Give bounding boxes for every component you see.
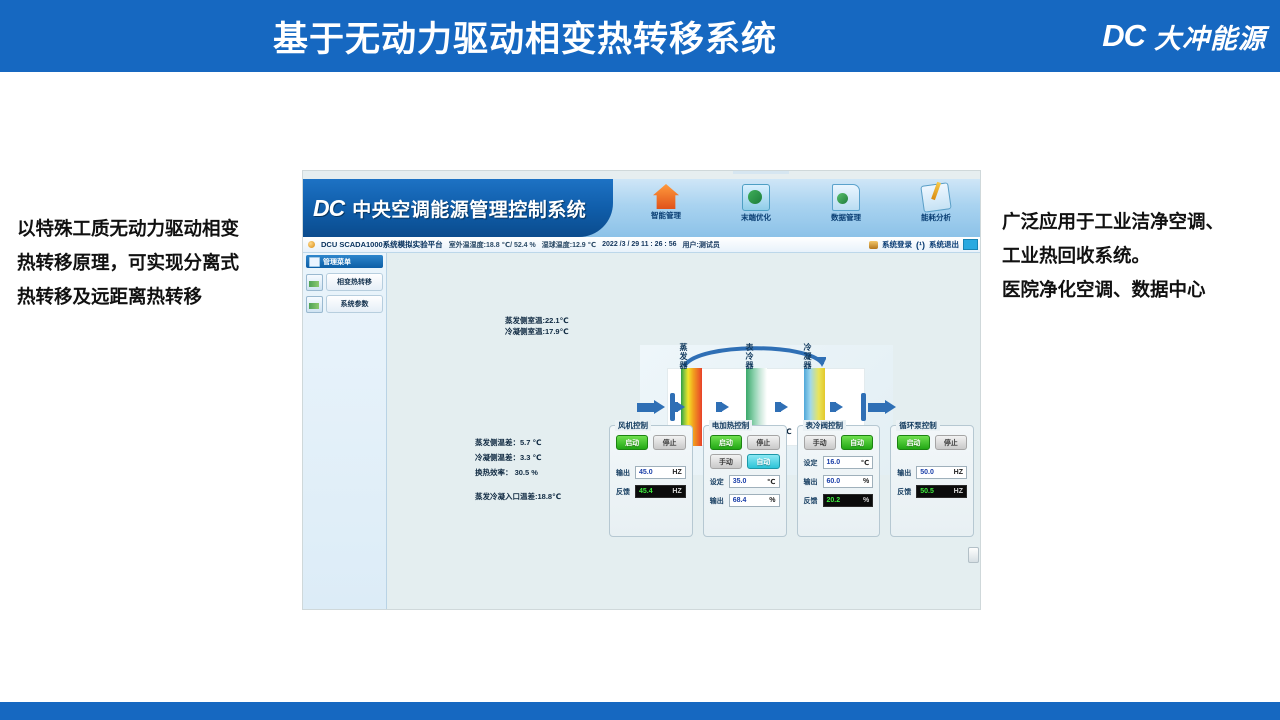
valve-feedback-label: 反馈 [804, 496, 819, 506]
heater-output-field[interactable]: 68.4 % [729, 494, 780, 507]
heater-button-row-2: 手动 自动 [710, 454, 780, 469]
sidebar-header-label: 管理菜单 [323, 257, 351, 267]
panel-fan-control: 风机控制 启动 停止 输出 45.0 HZ 反馈 45.4 HZ [609, 425, 693, 537]
pump-feedback-display: 50.5 HZ [916, 485, 967, 498]
valve-feedback-row: 反馈 20.2 % [804, 494, 874, 507]
nav-item-terminal-optimization[interactable]: 末端优化 [719, 181, 793, 223]
panel-electric-heater-control: 电加热控制 启动 停止 手动 自动 设定 35.0 ℃ 输出 [703, 425, 787, 537]
pump-feedback-row: 反馈 50.5 HZ [897, 485, 967, 498]
cond-room-temp: 冷凝侧室温:17.9℃ [505, 326, 569, 337]
sidebar-item-system-params[interactable]: 系统参数 [306, 295, 383, 313]
stat-efficiency: 换热效率： 30.5 % [475, 465, 561, 480]
brand-logo: DC 大冲能源 [1102, 0, 1266, 72]
valve-output-value: 60.0 [827, 478, 841, 485]
room-temperatures: 蒸发侧室温:22.1℃ 冷凝侧室温:17.9℃ [505, 315, 569, 337]
fan-output-unit: HZ [672, 469, 681, 476]
valve-output-label: 输出 [804, 477, 819, 487]
valve-button-row: 手动 自动 [804, 435, 874, 450]
caption-right: 广泛应用于工业洁净空调、 工业热回收系统。 医院净化空调、数据中心 [1002, 205, 1274, 307]
heater-setpoint-field[interactable]: 35.0 ℃ [729, 475, 780, 488]
panel-title-fan: 风机控制 [615, 420, 651, 431]
evap-room-temp: 蒸发侧室温:22.1℃ [505, 315, 569, 326]
logo-mark: DC [1102, 18, 1145, 54]
valve-feedback-unit: % [863, 497, 869, 504]
caption-right-line-1: 广泛应用于工业洁净空调、 [1002, 205, 1274, 239]
caption-right-line-2: 工业热回收系统。 [1002, 239, 1274, 273]
pump-feedback-value: 50.5 [920, 488, 934, 495]
app-icon [308, 241, 315, 248]
nav-item-smart-management[interactable]: 智能管理 [629, 181, 703, 221]
scada-canvas: 蒸发侧室温:22.1℃ 冷凝侧室温:17.9℃ 蒸发器 表冷器 冷凝器 [387, 253, 981, 610]
caption-left-line-1: 以特殊工质无动力驱动相变 [17, 212, 285, 246]
nav-label-2: 数据管理 [809, 212, 883, 223]
caption-left: 以特殊工质无动力驱动相变 热转移原理，可实现分离式 热转移及远距离热转移 [17, 212, 285, 314]
menu-icon [309, 257, 320, 267]
scada-screenshot: — □ × DC 中央空调能源管理控制系统 智能管理 末端优化 数据管理 能耗分… [302, 170, 981, 610]
status-bar: DCU SCADA1000系统模拟实验平台 室外温湿度:18.8 ℃/ 52.4… [303, 237, 981, 253]
caption-left-line-2: 热转移原理，可实现分离式 [17, 246, 285, 280]
chart-icon [306, 296, 323, 313]
heater-setpoint-row: 设定 35.0 ℃ [710, 475, 780, 488]
scada-nav: 智能管理 末端优化 数据管理 能耗分析 [621, 181, 981, 237]
label-evaporator: 蒸发器 [678, 343, 689, 370]
user-icon [869, 241, 878, 249]
panel-title-pump: 循环泵控制 [896, 420, 940, 431]
scada-banner: DC 中央空调能源管理控制系统 智能管理 末端优化 数据管理 能耗分析 [303, 179, 981, 237]
fan-output-field[interactable]: 45.0 HZ [635, 466, 686, 479]
current-user: 用户:测试员 [682, 240, 719, 250]
session-controls: 系统登录 (¹) 系统退出 [869, 239, 981, 250]
label-condenser: 冷凝器 [802, 343, 813, 370]
heater-setpoint-label: 设定 [710, 477, 725, 487]
nav-item-data-management[interactable]: 数据管理 [809, 181, 883, 223]
logo-name: 大冲能源 [1154, 17, 1266, 56]
scada-logo-mark: DC [313, 195, 344, 222]
sidebar: 管理菜单 相变热转移 系统参数 [303, 253, 387, 610]
status-badge [963, 239, 978, 250]
heater-setpoint-unit: ℃ [767, 478, 775, 486]
wetbulb-temp: 湿球温度:12.9 ℃ [542, 240, 596, 250]
fan-feedback-unit: HZ [672, 488, 681, 495]
flow-arrow-1 [677, 402, 685, 412]
label-surface-cooler: 表冷器 [744, 343, 755, 370]
nav-label-3: 能耗分析 [899, 212, 973, 223]
pump-stop-button[interactable]: 停止 [935, 435, 967, 450]
caption-right-line-3: 医院净化空调、数据中心 [1002, 273, 1274, 307]
valve-setpoint-field[interactable]: 16.0 ℃ [823, 456, 874, 469]
valve-output-field[interactable]: 60.0 % [823, 475, 874, 488]
heater-output-value: 68.4 [733, 497, 747, 504]
valve-setpoint-row: 设定 16.0 ℃ [804, 456, 874, 469]
pump-output-field[interactable]: 50.0 HZ [916, 466, 967, 479]
heater-auto-button[interactable]: 自动 [747, 454, 779, 469]
flow-arrow-4 [835, 402, 843, 412]
outdoor-temp-humidity: 室外温湿度:18.8 ℃/ 52.4 % [449, 240, 536, 250]
pump-output-unit: HZ [954, 469, 963, 476]
heater-button-row-1: 启动 停止 [710, 435, 780, 450]
panel-circulation-pump-control: 循环泵控制 启动 停止 输出 50.0 HZ 反馈 50.5 HZ [890, 425, 974, 537]
sidebar-item-phase-change[interactable]: 相变热转移 [306, 273, 383, 291]
fan-start-button[interactable]: 启动 [616, 435, 648, 450]
pump-feedback-label: 反馈 [897, 487, 912, 497]
heater-output-row: 输出 68.4 % [710, 494, 780, 507]
home-icon [653, 184, 679, 209]
heater-output-label: 输出 [710, 496, 725, 506]
fan-feedback-display: 45.4 HZ [635, 485, 686, 498]
nav-label-1: 末端优化 [719, 212, 793, 223]
valve-setpoint-unit: ℃ [861, 459, 869, 467]
login-link[interactable]: 系统登录 [882, 239, 912, 250]
nav-label-0: 智能管理 [629, 210, 703, 221]
scada-brand: DC 中央空调能源管理控制系统 [303, 179, 613, 237]
control-panels: 风机控制 启动 停止 输出 45.0 HZ 反馈 45.4 HZ [609, 425, 974, 541]
fan-feedback-label: 反馈 [616, 487, 631, 497]
logout-link[interactable]: 系统退出 [929, 239, 959, 250]
fan-output-row: 输出 45.0 HZ [616, 466, 686, 479]
panel-title-heater: 电加热控制 [709, 420, 753, 431]
performance-stats: 蒸发侧温差：5.7 ℃ 冷凝侧温差：3.3 ℃ 换热效率： 30.5 % 蒸发冷… [475, 435, 561, 504]
valve-setpoint-label: 设定 [804, 458, 819, 468]
stat-cond-delta: 冷凝侧温差：3.3 ℃ [475, 450, 561, 465]
outlet-lip [861, 393, 866, 421]
heater-manual-button[interactable]: 手动 [710, 454, 742, 469]
pump-output-label: 输出 [897, 468, 912, 478]
fan-feedback-row: 反馈 45.4 HZ [616, 485, 686, 498]
window-controls[interactable]: — □ × [733, 170, 789, 174]
nav-item-energy-analysis[interactable]: 能耗分析 [899, 181, 973, 223]
heater-start-button[interactable]: 启动 [710, 435, 742, 450]
fan-feedback-value: 45.4 [639, 488, 653, 495]
pump-output-value: 50.0 [920, 469, 934, 476]
pump-start-button[interactable]: 启动 [897, 435, 929, 450]
valve-output-unit: % [863, 478, 869, 485]
fan-button-row-1: 启动 停止 [616, 435, 686, 450]
fan-output-value: 45.0 [639, 469, 653, 476]
heater-output-unit: % [769, 497, 775, 504]
terminal-optimize-icon [742, 184, 770, 211]
flow-arrow-2 [721, 402, 729, 412]
heater-setpoint-value: 35.0 [733, 478, 747, 485]
valve-auto-button[interactable]: 自动 [841, 435, 873, 450]
air-inlet-arrow [637, 400, 665, 414]
flow-arrow-3 [780, 402, 788, 412]
scada-app-title: 中央空调能源管理控制系统 [352, 195, 586, 222]
air-outlet-arrow [868, 400, 896, 414]
slide-footer [0, 702, 1280, 720]
valve-output-row: 输出 60.0 % [804, 475, 874, 488]
valve-setpoint-value: 16.0 [827, 459, 841, 466]
sidebar-item-label-0: 相变热转移 [326, 273, 383, 291]
fan-output-label: 输出 [616, 468, 631, 478]
chart-icon [306, 274, 323, 291]
datetime: 2022 /3 / 29 11 : 26 : 56 [602, 241, 676, 248]
fan-stop-button[interactable]: 停止 [653, 435, 685, 450]
caption-left-line-3: 热转移及远距离热转移 [17, 280, 285, 314]
pump-feedback-unit: HZ [954, 488, 963, 495]
stat-evap-delta: 蒸发侧温差：5.7 ℃ [475, 435, 561, 450]
power-icon: (¹) [916, 240, 925, 250]
valve-manual-button[interactable]: 手动 [804, 435, 836, 450]
valve-feedback-value: 20.2 [827, 497, 841, 504]
pump-button-row: 启动 停止 [897, 435, 967, 450]
page-title: 基于无动力驱动相变热转移系统 [0, 0, 1050, 72]
energy-report-icon [920, 182, 951, 213]
scrollbar-thumb[interactable] [968, 547, 979, 563]
heater-stop-button[interactable]: 停止 [747, 435, 779, 450]
panel-title-valve: 表冷阀控制 [803, 420, 847, 431]
slide-header: 基于无动力驱动相变热转移系统 DC 大冲能源 [0, 0, 1280, 72]
stat-inlet-delta: 蒸发冷凝入口温差:18.8℃ [475, 489, 561, 504]
platform-name: DCU SCADA1000系统模拟实验平台 [321, 239, 443, 250]
valve-feedback-display: 20.2 % [823, 494, 874, 507]
data-folder-icon [832, 184, 860, 211]
panel-cooling-valve-control: 表冷阀控制 手动 自动 设定 16.0 ℃ 输出 60.0 % [797, 425, 881, 537]
pump-output-row: 输出 50.0 HZ [897, 466, 967, 479]
sidebar-item-label-1: 系统参数 [326, 295, 383, 313]
sidebar-header: 管理菜单 [306, 255, 383, 268]
